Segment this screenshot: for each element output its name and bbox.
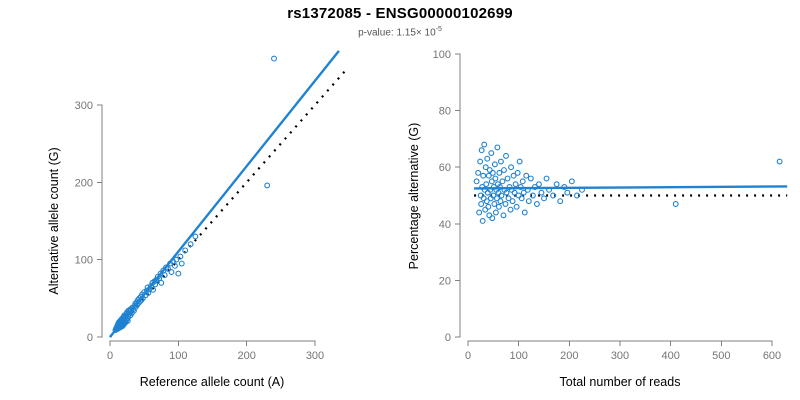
data-point <box>169 270 174 275</box>
pvalue-subtitle: p-value: 1.15× 10-5 <box>0 26 800 38</box>
data-point <box>517 159 522 164</box>
data-point <box>526 199 531 204</box>
data-point <box>497 170 502 175</box>
data-point <box>476 170 481 175</box>
data-point <box>480 219 485 224</box>
x-tick-label: 200 <box>237 350 255 362</box>
data-point <box>490 216 495 221</box>
data-point <box>502 168 507 173</box>
data-point <box>483 207 488 212</box>
pvalue-text: p-value: 1.15× 10 <box>358 27 436 38</box>
plot-canvas: 01002003000100200300Reference allele cou… <box>0 0 800 400</box>
data-point <box>673 202 678 207</box>
data-point <box>481 173 486 178</box>
data-point <box>477 210 482 215</box>
data-point <box>499 159 504 164</box>
y-tick-label: 100 <box>75 255 93 267</box>
x-tick-label: 300 <box>306 350 324 362</box>
y-tick-label: 0 <box>445 332 451 344</box>
y-axis-line <box>455 54 460 337</box>
data-point <box>515 170 520 175</box>
x-axis-title: Total number of reads <box>560 375 681 389</box>
x-tick-label: 200 <box>560 350 578 362</box>
data-point <box>493 210 498 215</box>
data-point <box>504 153 509 158</box>
data-series <box>113 56 276 332</box>
y-tick-label: 80 <box>439 106 451 118</box>
data-point <box>516 193 521 198</box>
data-point <box>510 199 515 204</box>
y-tick-label: 20 <box>439 275 451 287</box>
y-tick-label: 300 <box>75 100 93 112</box>
data-series <box>474 142 782 223</box>
data-point <box>492 162 497 167</box>
x-tick-label: 300 <box>611 350 629 362</box>
data-point <box>179 261 184 266</box>
data-point <box>474 179 479 184</box>
data-point <box>498 199 503 204</box>
right-scatter-panel: 0100200300400500600020406080100Total num… <box>407 49 787 389</box>
data-point <box>519 196 524 201</box>
data-point <box>508 207 513 212</box>
data-point <box>193 234 198 239</box>
data-point <box>490 170 495 175</box>
x-tick-label: 500 <box>712 350 730 362</box>
y-axis-title: Percentage alternative (G) <box>407 123 421 270</box>
data-point <box>535 202 540 207</box>
y-tick-label: 200 <box>75 177 93 189</box>
y-tick-label: 100 <box>433 49 451 61</box>
data-point <box>478 159 483 164</box>
x-axis-line <box>110 341 315 346</box>
data-point <box>542 196 547 201</box>
y-tick-label: 60 <box>439 162 451 174</box>
fit-line <box>474 186 787 188</box>
pvalue-exponent: -5 <box>436 26 442 33</box>
y-axis-line <box>97 105 102 337</box>
x-tick-label: 0 <box>107 350 113 362</box>
figure-panel: rs1372085 - ENSG00000102699 p-value: 1.1… <box>0 0 800 400</box>
data-point <box>176 271 181 276</box>
data-point <box>539 190 544 195</box>
data-point <box>505 176 510 181</box>
y-axis-title: Alternative allele count (G) <box>47 147 61 294</box>
data-point <box>565 190 570 195</box>
data-point <box>492 202 497 207</box>
data-point <box>777 159 782 164</box>
data-point <box>159 280 164 285</box>
data-point <box>524 173 529 178</box>
data-point <box>503 202 508 207</box>
data-point <box>497 204 502 209</box>
data-point <box>501 213 506 218</box>
data-point <box>528 176 533 181</box>
data-point <box>495 145 500 150</box>
data-point <box>484 182 489 187</box>
data-point <box>482 142 487 147</box>
data-point <box>513 182 518 187</box>
data-point <box>537 182 542 187</box>
data-point <box>509 165 514 170</box>
data-point <box>514 204 519 209</box>
left-scatter-panel: 01002003000100200300Reference allele cou… <box>47 51 346 389</box>
data-point <box>544 176 549 181</box>
data-point <box>569 179 574 184</box>
y-tick-label: 40 <box>439 219 451 231</box>
x-tick-label: 100 <box>509 350 527 362</box>
data-point <box>479 202 484 207</box>
data-point <box>487 168 492 173</box>
data-point <box>487 213 492 218</box>
data-point <box>272 56 277 61</box>
x-tick-label: 0 <box>465 350 471 362</box>
data-point <box>479 148 484 153</box>
data-point <box>554 182 559 187</box>
data-point <box>520 179 525 184</box>
x-tick-label: 100 <box>169 350 187 362</box>
x-axis-title: Reference allele count (A) <box>140 375 285 389</box>
data-point <box>265 183 270 188</box>
data-point <box>558 199 563 204</box>
page-title: rs1372085 - ENSG00000102699 <box>0 5 800 22</box>
data-point <box>481 196 486 201</box>
data-point <box>493 176 498 181</box>
data-point <box>522 210 527 215</box>
data-point <box>500 179 505 184</box>
x-tick-label: 600 <box>763 350 781 362</box>
x-tick-label: 400 <box>661 350 679 362</box>
y-tick-label: 0 <box>87 332 93 344</box>
data-point <box>485 156 490 161</box>
data-point <box>486 204 491 209</box>
data-point <box>489 151 494 156</box>
